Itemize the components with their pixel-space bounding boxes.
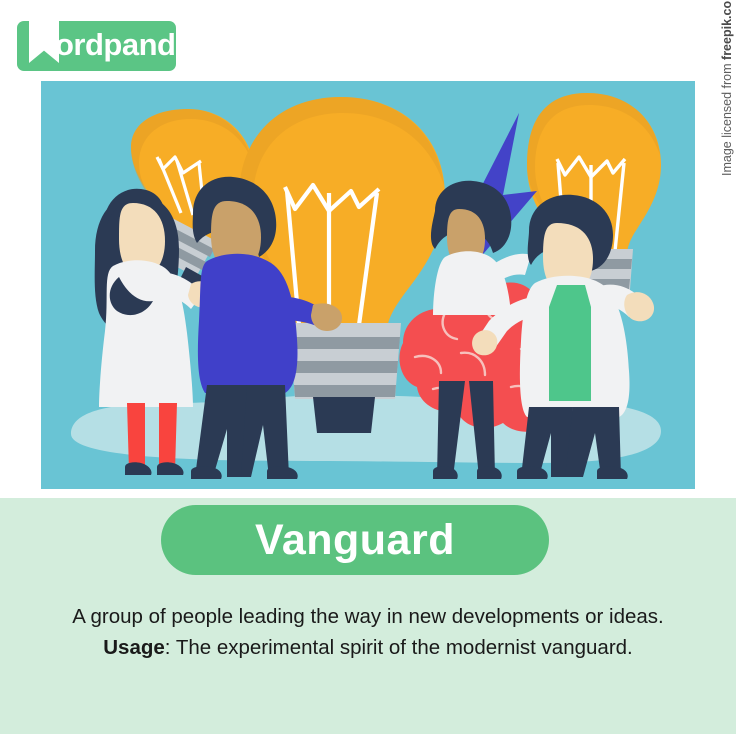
usage-separator: : — [165, 636, 176, 659]
definition-text: A group of people leading the way in new… — [0, 601, 736, 632]
image-attribution: Image licensed from freepik.com — [720, 0, 734, 176]
word-illustration — [41, 81, 695, 489]
usage-label: Usage — [103, 636, 165, 659]
definition-block: A group of people leading the way in new… — [0, 601, 736, 663]
word-title-pill: Vanguard — [161, 505, 549, 575]
logo-text: ordpandit — [55, 27, 176, 63]
usage-text: Usage: The experimental spirit of the mo… — [0, 632, 736, 663]
page-title: Vanguard — [255, 516, 455, 565]
usage-sentence: The experimental spirit of the modernist… — [176, 636, 633, 659]
illustration-svg — [41, 81, 695, 489]
attribution-source: freepik.com — [720, 0, 734, 60]
wordpandit-logo[interactable]: ordpandit — [17, 21, 176, 71]
attribution-prefix: Image licensed from — [720, 60, 734, 176]
word-info-panel: Vanguard A group of people leading the w… — [0, 498, 736, 734]
